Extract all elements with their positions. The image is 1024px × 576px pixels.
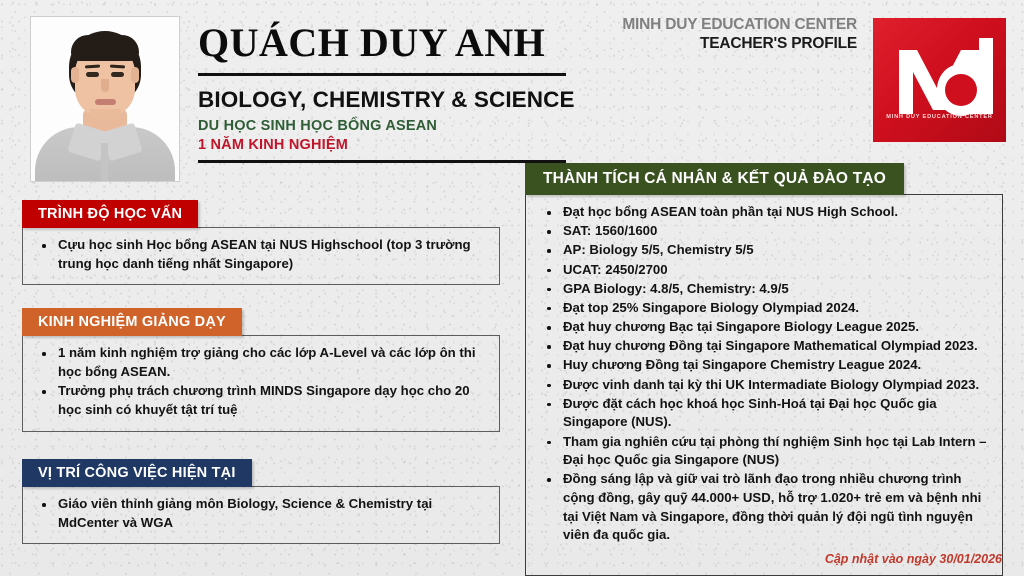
list-item: 1 năm kinh nghiệm trợ giảng cho các lớp … [33,344,487,381]
section-current-position-title: VỊ TRÍ CÔNG VIỆC HIỆN TẠI [22,459,252,487]
name-block: QUÁCH DUY ANH BIOLOGY, CHEMISTRY & SCIEN… [198,22,566,163]
education-list: Cựu học sinh Học bổng ASEAN tại NUS High… [33,236,487,273]
list-item: Đạt huy chương Đồng tại Singapore Mathem… [536,337,990,356]
section-education: TRÌNH ĐỘ HỌC VẤN Cựu học sinh Học bổng A… [22,200,500,285]
subtitle-scholarship: DU HỌC SINH HỌC BỔNG ASEAN [198,118,566,134]
list-item: SAT: 1560/1600 [536,222,990,241]
section-education-title: TRÌNH ĐỘ HỌC VẤN [22,200,198,228]
list-item: UCAT: 2450/2700 [536,261,990,280]
list-item: Cựu học sinh Học bổng ASEAN tại NUS High… [33,236,487,273]
list-item: Đạt huy chương Bạc tại Singapore Biology… [536,318,990,337]
list-item: Giáo viên thỉnh giảng môn Biology, Scien… [33,495,487,532]
achievements-list: Đạt học bổng ASEAN toàn phần tại NUS Hig… [536,203,990,545]
portrait-illustration [31,17,179,181]
role-title: BIOLOGY, CHEMISTRY & SCIENCE [198,87,566,113]
portrait-photo [30,16,180,182]
section-experience-title: KINH NGHIỆM GIẢNG DẠY [22,308,242,336]
list-item: Được đặt cách học khoá học Sinh-Hoá tại … [536,395,990,432]
experience-list: 1 năm kinh nghiệm trợ giảng cho các lớp … [33,344,487,420]
md-logo-icon [873,18,1006,142]
section-current-position-body: Giáo viên thỉnh giảng môn Biology, Scien… [22,486,500,544]
list-item: Tham gia nghiên cứu tại phòng thí nghiệm… [536,433,990,470]
divider-top [198,73,566,76]
section-achievements: THÀNH TÍCH CÁ NHÂN & KẾT QUẢ ĐÀO TẠO Đạt… [525,163,1003,576]
list-item: Đạt học bổng ASEAN toàn phần tại NUS Hig… [536,203,990,222]
list-item: GPA Biology: 4.8/5, Chemistry: 4.9/5 [536,280,990,299]
updated-timestamp: Cập nhật vào ngày 30/01/2026 [825,552,1002,566]
slide-canvas: QUÁCH DUY ANH BIOLOGY, CHEMISTRY & SCIEN… [0,0,1024,576]
list-item: Đạt top 25% Singapore Biology Olympiad 2… [536,299,990,318]
list-item: Trưởng phụ trách chương trình MINDS Sing… [33,382,487,419]
list-item: AP: Biology 5/5, Chemistry 5/5 [536,241,990,260]
profile-label: TEACHER'S PROFILE [700,35,857,53]
section-education-body: Cựu học sinh Học bổng ASEAN tại NUS High… [22,227,500,285]
section-achievements-title: THÀNH TÍCH CÁ NHÂN & KẾT QUẢ ĐÀO TẠO [525,163,904,195]
list-item: Được vinh danh tại kỳ thi UK Intermadiat… [536,376,990,395]
section-achievements-body: Đạt học bổng ASEAN toàn phần tại NUS Hig… [525,194,1003,576]
org-name: MINH DUY EDUCATION CENTER [622,16,857,34]
list-item: Huy chương Đồng tại Singapore Chemistry … [536,356,990,375]
section-current-position: VỊ TRÍ CÔNG VIỆC HIỆN TẠI Giáo viên thỉn… [22,459,500,544]
subtitle-experience: 1 NĂM KINH NGHIỆM [198,137,566,153]
page-title: QUÁCH DUY ANH [198,22,566,64]
logo-caption: MINH DUY EDUCATION CENTER [873,114,1006,120]
md-logo: MINH DUY EDUCATION CENTER [873,18,1006,142]
divider-bottom [198,160,566,163]
section-experience-body: 1 năm kinh nghiệm trợ giảng cho các lớp … [22,335,500,432]
position-list: Giáo viên thỉnh giảng môn Biology, Scien… [33,495,487,532]
list-item: Đồng sáng lập và giữ vai trò lãnh đạo tr… [536,470,990,545]
section-experience: KINH NGHIỆM GIẢNG DẠY 1 năm kinh nghiệm … [22,308,500,432]
